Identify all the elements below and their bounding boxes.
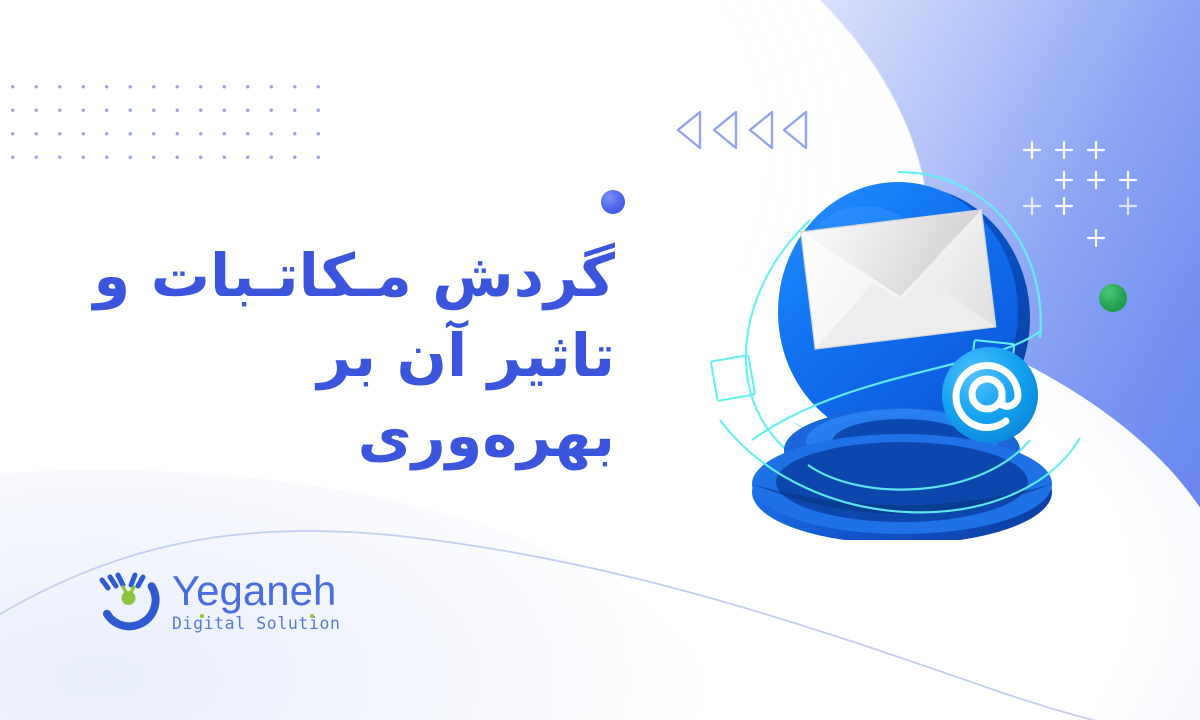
- logo-tagline: Digital Solution: [172, 616, 341, 633]
- logo-wordmark: Yeganeh: [172, 570, 341, 612]
- at-symbol-badge: [942, 347, 1038, 443]
- blue-accent-dot: [601, 190, 625, 214]
- logo-tagline-text: Digital Solution: [172, 614, 341, 633]
- logo-text-block: Yeganeh Digital Solution: [172, 570, 341, 633]
- white-envelope: [801, 210, 996, 349]
- brand-logo[interactable]: Yeganeh Digital Solution: [96, 566, 341, 636]
- yeganeh-swoosh-logo-mark: [96, 566, 162, 636]
- headline-line-1: گردش مـکاتـبات و: [94, 241, 615, 310]
- tagline-dot-accent-2: [310, 614, 314, 618]
- tagline-dot-accent-1: [200, 614, 204, 618]
- marketing-banner: گردش مـکاتـبات و تاثیر آن بر بهره‌وری: [0, 0, 1200, 720]
- dot-grid-pattern: [0, 74, 334, 164]
